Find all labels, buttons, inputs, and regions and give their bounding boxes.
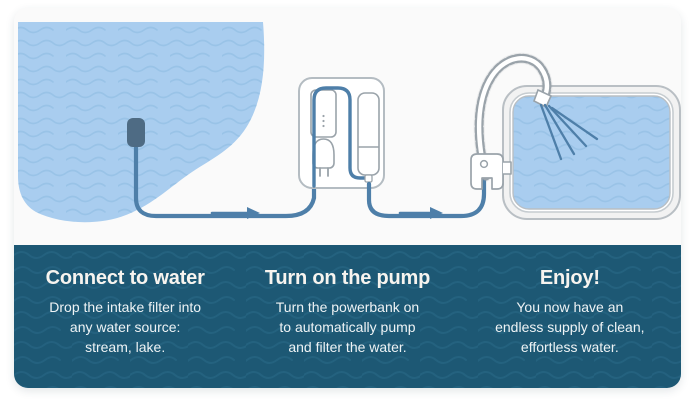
step-description: Turn the powerbank on to automatically p… <box>244 298 450 358</box>
step-enjoy: Enjoy! You now have an endless supply of… <box>459 267 681 358</box>
step-title: Connect to water <box>22 267 228 289</box>
step-description-line: Turn the powerbank on <box>244 298 450 318</box>
step-description-line: You now have an <box>467 298 673 318</box>
intake-filter <box>127 118 145 147</box>
filter-cartridge <box>358 93 379 182</box>
step-description-line: any water source: <box>22 318 228 338</box>
step-description-line: Drop the intake filter into <box>22 298 228 318</box>
step-description: You now have an endless supply of clean,… <box>467 298 673 358</box>
infographic-card: Connect to water Drop the intake filter … <box>14 8 681 388</box>
water-basin <box>503 86 680 219</box>
step-turn-on-the-pump: Turn on the pump Turn the powerbank on t… <box>236 267 458 358</box>
step-title: Turn on the pump <box>244 267 450 289</box>
illustration-stage <box>14 8 681 245</box>
pump-filter-module <box>299 78 384 188</box>
step-title: Enjoy! <box>467 267 673 289</box>
step-description-line: endless supply of clean, <box>467 318 673 338</box>
steps-grid: Connect to water Drop the intake filter … <box>14 245 681 388</box>
step-description-line: and filter the water. <box>244 338 450 358</box>
step-description-line: stream, lake. <box>22 338 228 358</box>
steps-panel: Connect to water Drop the intake filter … <box>14 245 681 388</box>
step-description: Drop the intake filter into any water so… <box>22 298 228 358</box>
step-description-line: effortless water. <box>467 338 673 358</box>
infographic-root: Connect to water Drop the intake filter … <box>0 0 695 404</box>
step-description-line: to automatically pump <box>244 318 450 338</box>
step-connect-to-water: Connect to water Drop the intake filter … <box>14 267 236 358</box>
